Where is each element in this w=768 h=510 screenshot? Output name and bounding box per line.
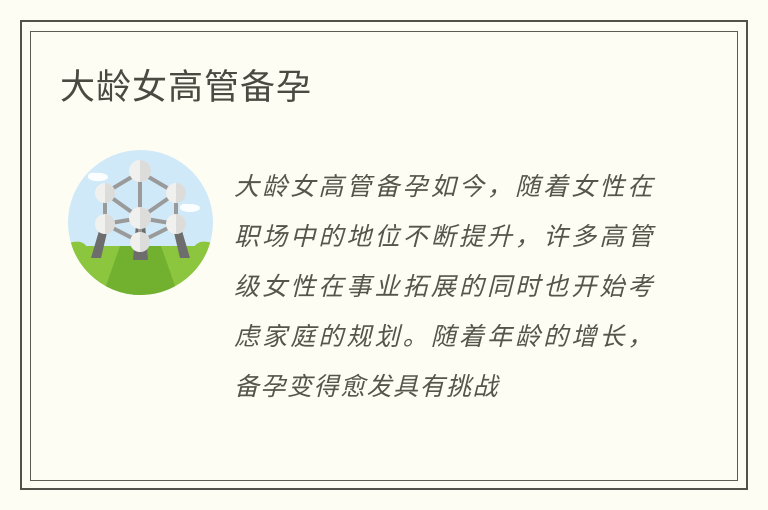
page-title: 大龄女高管备孕 bbox=[60, 66, 312, 110]
page-root: 大龄女高管备孕 bbox=[0, 0, 768, 510]
article-body-text: 大龄女高管备孕如今，随着女性在职场中的地位不断提升，许多高管级女性在事业拓展的同… bbox=[234, 162, 654, 412]
atomium-landmark-illustration bbox=[68, 150, 213, 295]
